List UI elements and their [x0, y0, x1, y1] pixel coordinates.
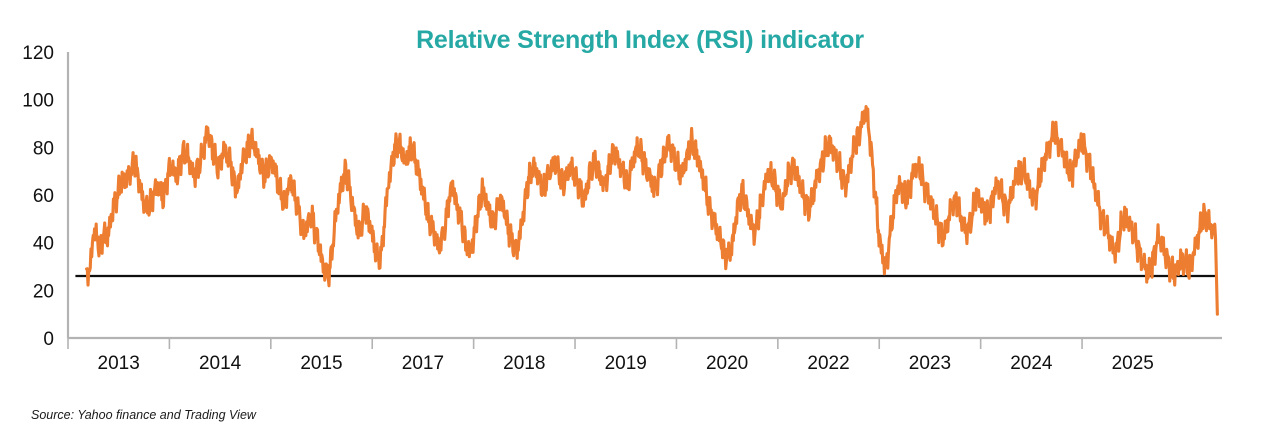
- y-axis-group: 020406080100120: [22, 43, 68, 350]
- x-tick-label: 2018: [503, 353, 545, 374]
- y-tick-label: 100: [22, 91, 54, 112]
- chart-plot-area: 020406080100120 201320142015201720182019…: [0, 0, 1280, 439]
- x-axis-tick-labels: 2013201420152017201820192020202220232024…: [98, 353, 1154, 374]
- x-tick-label: 2022: [807, 353, 849, 374]
- x-tick-label: 2023: [909, 353, 951, 374]
- y-tick-label: 60: [33, 186, 54, 207]
- y-axis-tick-labels: 020406080100120: [22, 43, 54, 350]
- y-tick-label: 40: [33, 234, 54, 255]
- series-group: [87, 107, 1218, 315]
- x-tick-label: 2017: [402, 353, 444, 374]
- x-tick-label: 2019: [605, 353, 647, 374]
- rsi-series-line: [87, 107, 1218, 315]
- x-tick-label: 2024: [1010, 353, 1053, 374]
- rsi-chart-figure: Relative Strength Index (RSI) indicator …: [0, 0, 1280, 439]
- x-tick-label: 2013: [98, 353, 140, 374]
- y-tick-label: 20: [33, 281, 54, 302]
- x-tick-label: 2015: [300, 353, 342, 374]
- x-tick-label: 2014: [199, 353, 242, 374]
- x-axis-group: 2013201420152017201820192020202220232024…: [68, 338, 1222, 374]
- source-note: Source: Yahoo finance and Trading View: [31, 408, 256, 422]
- y-tick-label: 80: [33, 138, 54, 159]
- x-tick-label: 2020: [706, 353, 748, 374]
- y-tick-label: 0: [43, 329, 54, 350]
- x-tick-label: 2025: [1112, 353, 1154, 374]
- y-tick-label: 120: [22, 43, 54, 64]
- x-axis-tick-marks: [68, 338, 1082, 349]
